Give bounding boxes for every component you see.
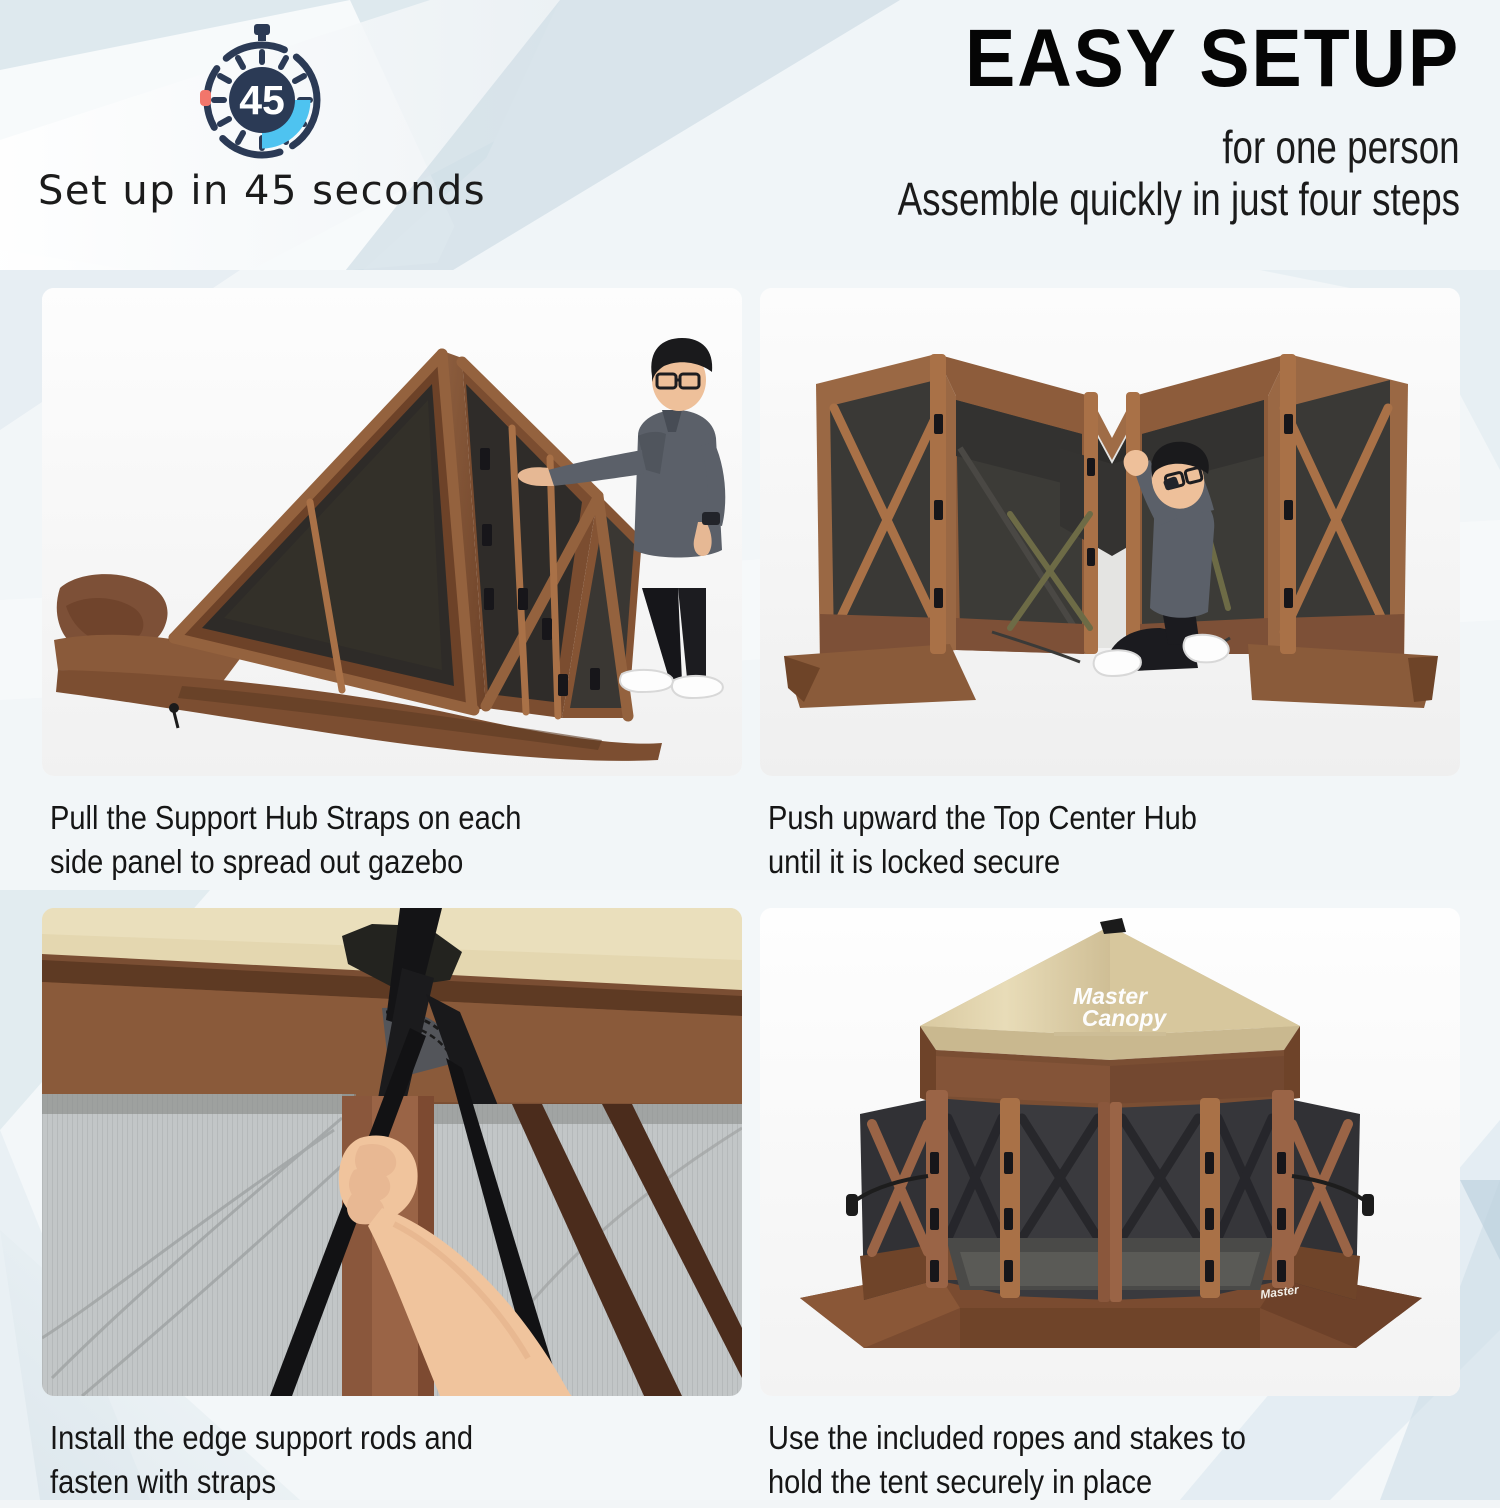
step-1: Pull the Support Hub Straps on each side… — [42, 288, 742, 888]
step-2-caption: Push upward the Top Center Hub until it … — [768, 796, 1419, 883]
step-3: Install the edge support rods and fasten… — [42, 908, 742, 1508]
step-4: Master Canopy — [760, 908, 1460, 1508]
step-4-caption: Use the included ropes and stakes to hol… — [768, 1416, 1419, 1503]
step-1-photo-pull-straps — [42, 288, 742, 776]
step-3-photo-edge-support-rods — [42, 908, 742, 1396]
step-4-photo-finished-gazebo: Master Canopy — [760, 908, 1460, 1396]
steps-grid: Pull the Support Hub Straps on each side… — [0, 0, 1500, 1500]
step-2-photo-push-center-hub — [760, 288, 1460, 776]
step-1-caption: Pull the Support Hub Straps on each side… — [50, 796, 701, 883]
logo-line-2: Canopy — [1082, 1005, 1168, 1031]
step-3-caption: Install the edge support rods and fasten… — [50, 1416, 701, 1503]
step-2: Push upward the Top Center Hub until it … — [760, 288, 1460, 888]
